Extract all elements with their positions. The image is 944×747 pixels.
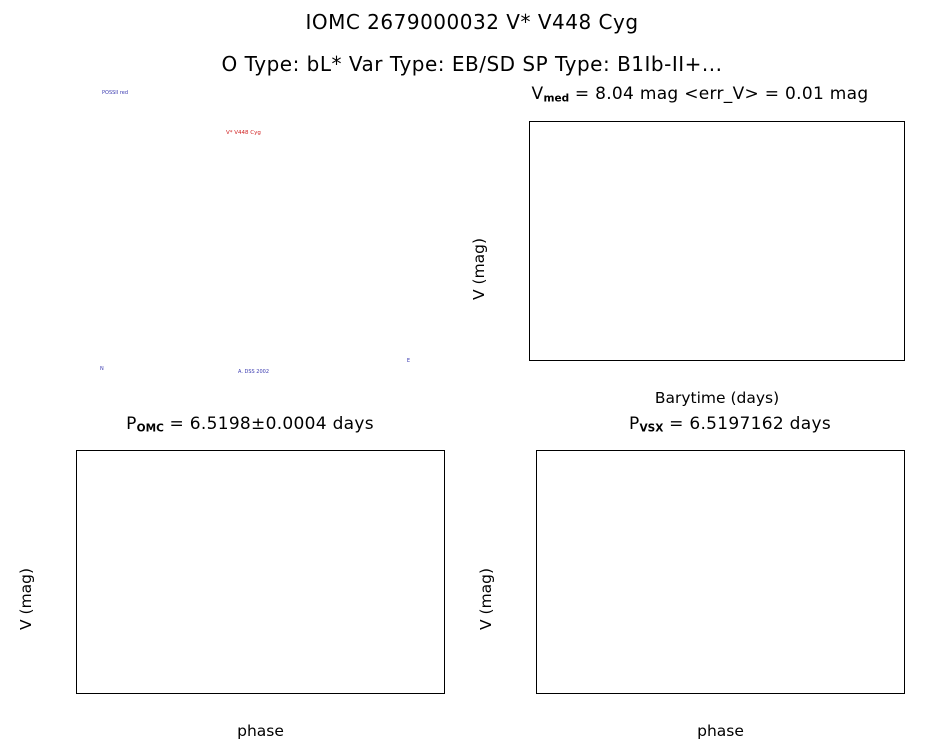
phase-omc-plot-area [77,451,444,693]
phase-vsx-plot-area [537,451,904,693]
phase-omc-x-axis-label: phase [76,722,445,740]
object-type-line: O Type: bL* Var Type: EB/SD SP Type: B1I… [0,52,944,76]
timeseries-plot-area [530,122,904,360]
finder-east-label: E [407,358,410,364]
timeseries-title-rest: = 8.04 mag <err_V> = 0.01 mag [569,84,868,104]
phase-omc-title: POMC = 6.5198±0.0004 days [40,414,460,435]
phase-vsx-title: PVSX = 6.5197162 days [540,414,920,435]
timeseries-title-prefix: V [532,84,544,104]
phase-vsx-y-axis-label: V (mag) [477,568,495,630]
finder-north-label: N [100,366,104,372]
phase-omc-plot [76,450,445,694]
timeseries-title-subscript: med [543,93,569,105]
timeseries-title: Vmed = 8.04 mag <err_V> = 0.01 mag [470,84,930,105]
page-title: IOMC 2679000032 V* V448 Cyg [0,10,944,34]
phase-omc-title-rest: = 6.5198±0.0004 days [164,414,374,434]
phase-vsx-title-rest: = 6.5197162 days [663,414,831,434]
phase-omc-title-subscript: OMC [137,423,164,435]
finder-chart: V* V448 Cyg POSSII red A. DSS 2002 N E [98,88,412,376]
phase-vsx-title-prefix: P [629,414,640,434]
finder-chart-object-label: V* V448 Cyg [226,130,261,136]
finder-survey-label: POSSII red [102,90,128,96]
finder-credit-label: A. DSS 2002 [238,369,269,375]
phase-omc-y-axis-label: V (mag) [17,568,35,630]
timeseries-plot [529,121,905,361]
phase-omc-title-prefix: P [126,414,137,434]
timeseries-y-axis-label: V (mag) [470,238,488,300]
phase-vsx-x-axis-label: phase [536,722,905,740]
phase-vsx-title-subscript: VSX [640,423,664,435]
timeseries-x-axis-label: Barytime (days) [529,389,905,407]
phase-vsx-plot [536,450,905,694]
